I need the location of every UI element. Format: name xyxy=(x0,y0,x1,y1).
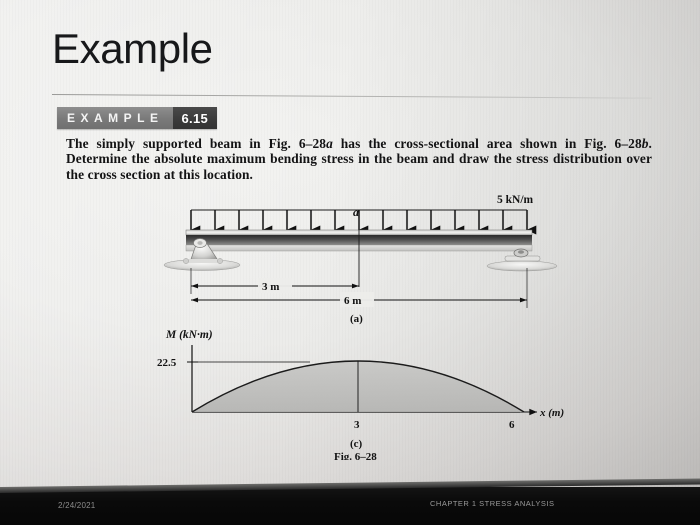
moment-xtick-3: 3 xyxy=(354,419,360,431)
example-banner-word: EXAMPLE xyxy=(57,107,173,129)
figure-6-28: 5 kN/m a xyxy=(0,190,700,460)
beam-diagram: 5 kN/m a xyxy=(164,194,557,325)
footer-chapter-label: CHAPTER 1 STRESS ANALYSIS xyxy=(430,499,554,508)
dimension-3m: 3 m xyxy=(191,268,359,294)
moment-x-axis-label: x (m) xyxy=(539,407,564,419)
moment-diagram: M (kN·m) x (m) 22.5 xyxy=(157,329,564,450)
dimension-6m-label: 6 m xyxy=(344,295,361,307)
load-magnitude-label: 5 kN/m xyxy=(497,194,534,206)
page-title: Example xyxy=(52,28,213,70)
figure-svg: 5 kN/m a xyxy=(0,190,700,460)
section-marker-label: a xyxy=(353,205,359,219)
footer-date: 2/24/2021 xyxy=(58,501,95,510)
slide-surface: Example EXAMPLE 6.15 The simply supporte… xyxy=(0,0,700,487)
projected-slide-screenshot: Example EXAMPLE 6.15 The simply supporte… xyxy=(0,0,700,525)
problem-statement: The simply supported beam in Fig. 6–28a … xyxy=(66,136,652,182)
dimension-3m-label: 3 m xyxy=(262,281,279,293)
part-c-caption: (c) xyxy=(350,438,363,450)
roller-support xyxy=(487,249,557,271)
title-divider xyxy=(52,94,652,99)
figure-caption: Fig. 6–28 xyxy=(334,451,377,460)
example-banner: EXAMPLE 6.15 xyxy=(57,107,217,129)
example-banner-number: 6.15 xyxy=(173,107,218,129)
moment-peak-label: 22.5 xyxy=(157,357,177,369)
moment-xtick-6: 6 xyxy=(509,419,515,431)
moment-y-axis-label: M (kN·m) xyxy=(165,329,213,341)
part-a-caption: (a) xyxy=(350,313,363,325)
footer-bar: 2/24/2021 CHAPTER 1 STRESS ANALYSIS xyxy=(0,487,700,525)
